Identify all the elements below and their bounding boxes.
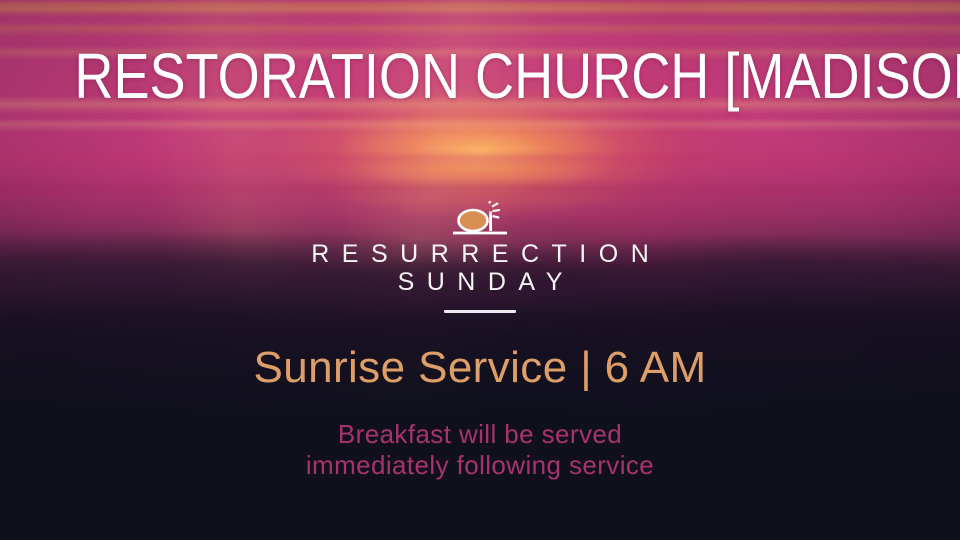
event-title-line-2: SUNDAY: [0, 268, 960, 296]
breakfast-note-line-2: immediately following service: [0, 450, 960, 481]
service-time-line: Sunrise Service | 6 AM: [0, 344, 960, 392]
flyer-content: RESTORATION CHURCH [MADISON] RESURRECTIO…: [0, 0, 960, 540]
sunrise-service-flyer: RESTORATION CHURCH [MADISON] RESURRECTIO…: [0, 0, 960, 540]
event-title-line-1: RESURRECTION: [0, 240, 960, 268]
sunrise-icon: [443, 201, 517, 237]
church-title: RESTORATION CHURCH [MADISON]: [74, 44, 885, 108]
breakfast-note-line-1: Breakfast will be served: [0, 419, 960, 450]
title-divider: [444, 310, 516, 313]
breakfast-note: Breakfast will be served immediately fol…: [0, 419, 960, 481]
